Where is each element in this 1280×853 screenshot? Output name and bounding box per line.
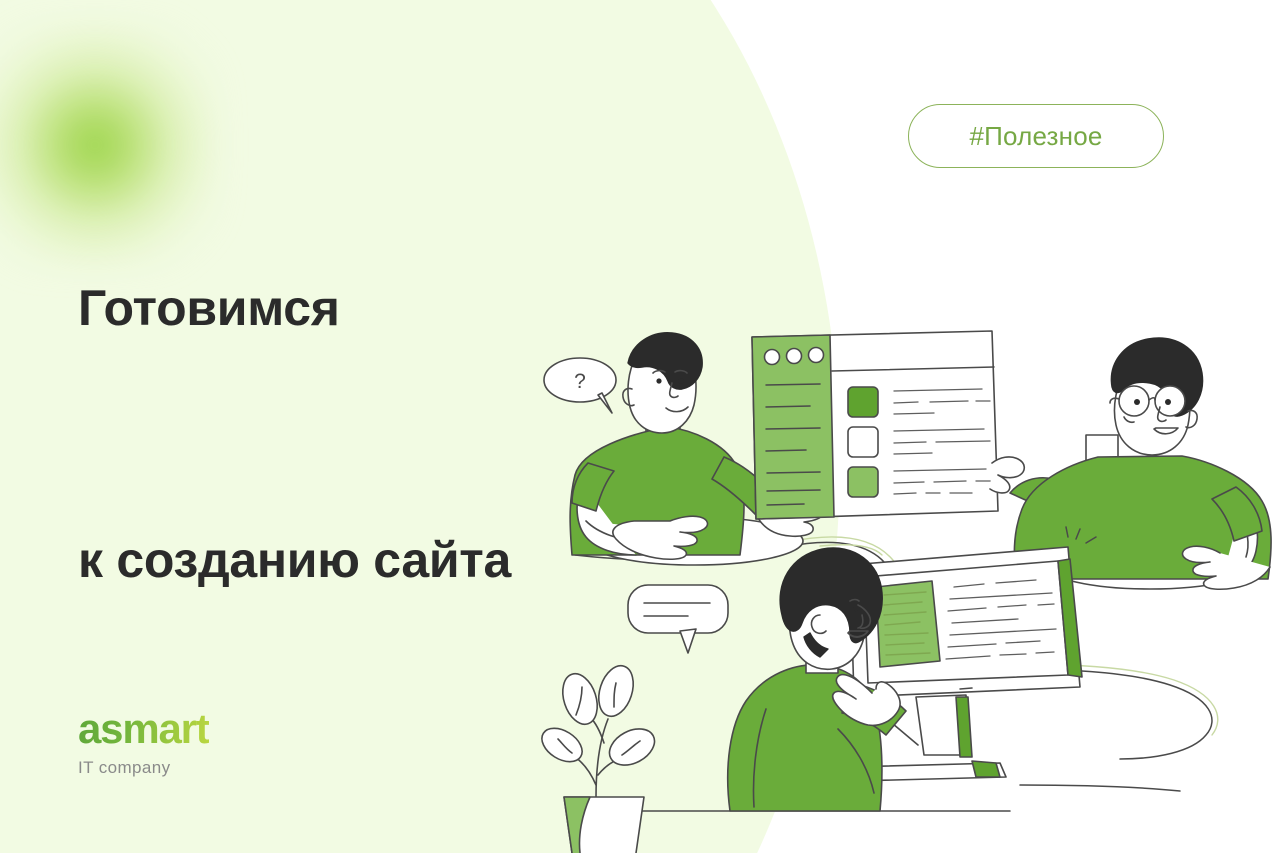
banner-root: Готовимся к созданию сайта #Полезное asm… (0, 0, 1280, 853)
wireframe-panel (752, 331, 998, 519)
question-bubble: ? (544, 358, 616, 413)
page-title: Готовимся к созданию сайта (78, 98, 511, 770)
hero-illustration: .st{fill:none;stroke:#4A4A4A;stroke-widt… (520, 315, 1280, 853)
desktop-monitor (850, 527, 1096, 781)
potted-plant (536, 661, 680, 853)
brand-logo-wordmark: asmart (78, 708, 209, 750)
brand-logo-subtitle: IT company (78, 758, 209, 778)
hashtag-badge-label: #Полезное (969, 121, 1102, 152)
brand-logo[interactable]: asmart IT company (78, 708, 209, 778)
question-bubble-text: ? (574, 370, 586, 393)
hashtag-badge[interactable]: #Полезное (908, 104, 1164, 168)
page-title-line-2: к созданию сайта (78, 518, 511, 602)
page-title-line-1: Готовимся (78, 266, 511, 350)
lines-bubble (628, 585, 728, 653)
